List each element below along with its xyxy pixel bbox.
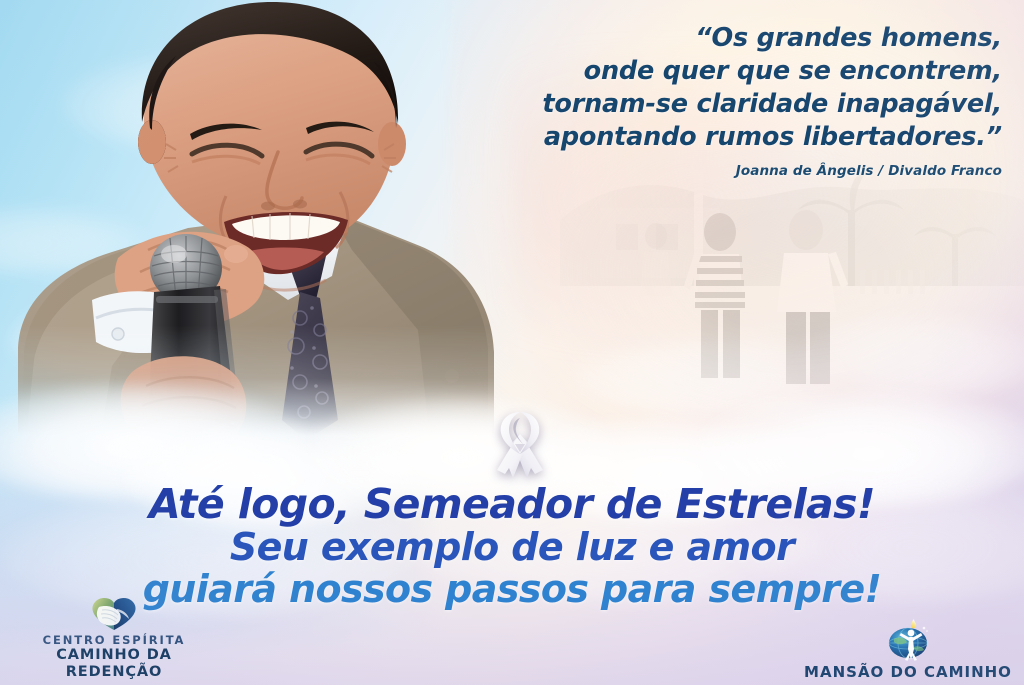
logo-left-line-1: CENTRO ESPÍRITA bbox=[16, 633, 212, 647]
headline-line-2: Seu exemplo de luz e amor bbox=[0, 526, 1024, 568]
quote-line-4: apontando rumos libertadores.” bbox=[442, 121, 1002, 154]
faded-background-photo bbox=[560, 150, 1024, 420]
quote-block: “Os grandes homens, onde quer que se enc… bbox=[442, 22, 1002, 179]
white-awareness-ribbon-icon bbox=[489, 406, 551, 482]
quote-attribution: Joanna de Ângelis / Divaldo Franco bbox=[442, 163, 1002, 179]
quote-line-1: “Os grandes homens, bbox=[442, 22, 1002, 55]
headline-block: Até logo, Semeador de Estrelas! Seu exem… bbox=[0, 482, 1024, 611]
memorial-poster: “Os grandes homens, onde quer que se enc… bbox=[0, 0, 1024, 685]
headline-line-1: Até logo, Semeador de Estrelas! bbox=[0, 482, 1024, 526]
ribbon-svg bbox=[489, 406, 551, 482]
logo-right-line-1: MANSÃO DO CAMINHO bbox=[802, 663, 1014, 681]
logo-mansao-do-caminho[interactable]: MANSÃO DO CAMINHO bbox=[802, 619, 1014, 681]
logo-left-line-2: CAMINHO DA REDENÇÃO bbox=[16, 647, 212, 681]
globe-figure-flame-logo-icon bbox=[881, 619, 935, 661]
quote-line-2: onde quer que se encontrem, bbox=[442, 55, 1002, 88]
quote-line-3: tornam-se claridade inapagável, bbox=[442, 88, 1002, 121]
logo-centro-espirita-caminho-da-redencao[interactable]: CENTRO ESPÍRITA CAMINHO DA REDENÇÃO bbox=[16, 597, 212, 681]
heart-hands-logo-icon bbox=[86, 597, 142, 631]
faded-background-photo-illustration bbox=[560, 150, 1024, 420]
